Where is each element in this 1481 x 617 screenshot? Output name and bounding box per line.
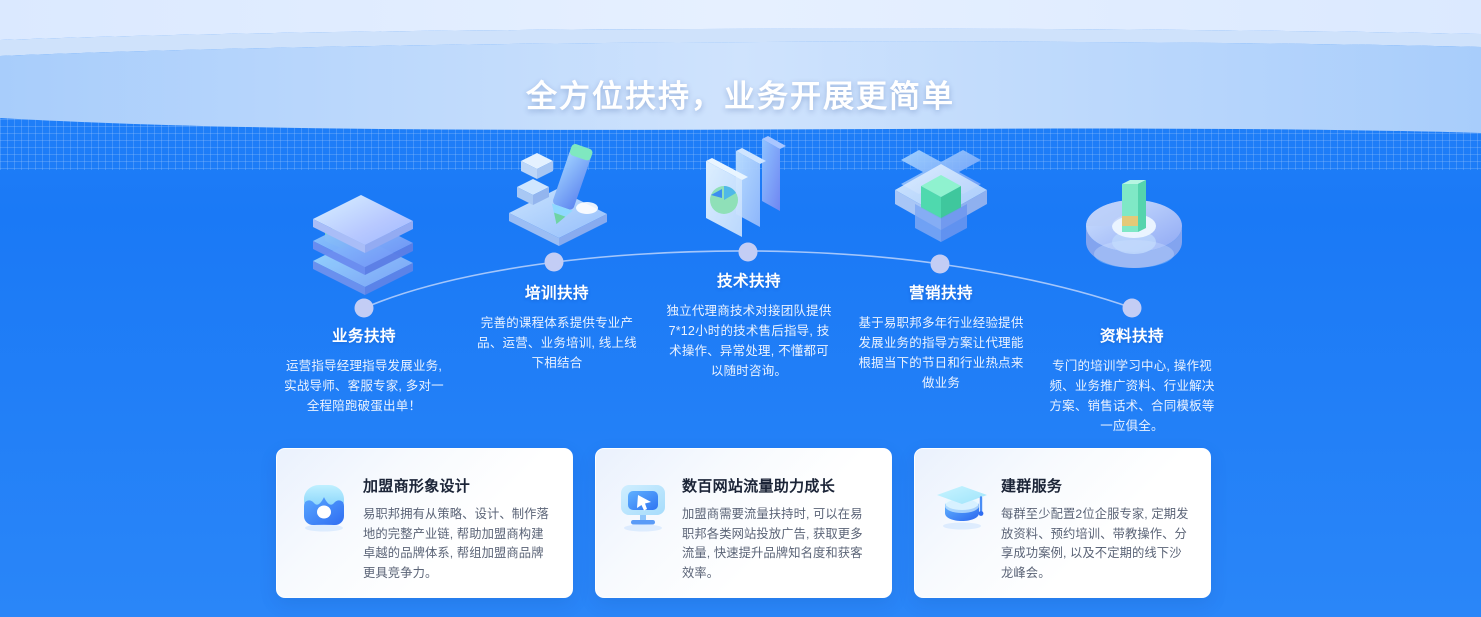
support-title: 培训扶持 [473, 285, 641, 304]
stacked-layers-icon [303, 185, 428, 295]
stacked-panels-chart-icon [690, 133, 805, 251]
feature-card-title: 建群服务 [1001, 475, 1190, 496]
feature-card-list: 加盟商形象设计 易职邦拥有从策略、设计、制作落地的完整产业链, 帮助加盟商构建卓… [276, 448, 1211, 598]
support-title: 资料扶持 [1048, 328, 1216, 347]
monitor-cursor-icon [614, 471, 676, 597]
shop-storefront-icon [295, 471, 357, 597]
support-desc: 独立代理商技术对接团队提供7*12小时的技术售后指导, 技术操作、异常处理, 不… [664, 301, 834, 382]
support-title: 技术扶持 [664, 273, 834, 292]
support-desc: 基于易职邦多年行业经验提供发展业务的指导方案让代理能根据当下的节日和行业热点来做… [857, 313, 1025, 394]
page-title: 全方位扶持，业务开展更简单 [0, 71, 1481, 116]
support-desc: 专门的培训学习中心, 操作视频、业务推广资料、行业解决方案、销售话术、合同模板等… [1048, 356, 1216, 437]
feature-card-title: 数百网站流量助力成长 [682, 475, 871, 496]
donut-chart-icon [1078, 168, 1190, 280]
pencil-platform-icon [495, 135, 620, 255]
feature-card-title: 加盟商形象设计 [363, 475, 552, 496]
feature-card-desc: 每群至少配置2位企服专家, 定期发放资料、预约培训、带教操作、分享成功案例, 以… [1001, 505, 1190, 584]
support-item-5: 资料扶持 专门的培训学习中心, 操作视频、业务推广资料、行业解决方案、销售话术、… [1048, 328, 1216, 437]
support-item-4: 营销扶持 基于易职邦多年行业经验提供发展业务的指导方案让代理能根据当下的节日和行… [857, 285, 1025, 394]
feature-card-1[interactable]: 加盟商形象设计 易职邦拥有从策略、设计、制作落地的完整产业链, 帮助加盟商构建卓… [276, 448, 573, 598]
support-desc: 运营指导经理指导发展业务, 实战导师、客服专家, 多对一全程陪跑破蛋出单！ [280, 356, 448, 417]
support-title: 业务扶持 [280, 328, 448, 347]
feature-card-desc: 易职邦拥有从策略、设计、制作落地的完整产业链, 帮助加盟商构建卓越的品牌体系, … [363, 505, 552, 584]
cube-box-icon [885, 142, 997, 264]
support-item-3: 技术扶持 独立代理商技术对接团队提供7*12小时的技术售后指导, 技术操作、异常… [664, 273, 834, 382]
support-item-1: 业务扶持 运营指导经理指导发展业务, 实战导师、客服专家, 多对一全程陪跑破蛋出… [280, 328, 448, 416]
support-title: 营销扶持 [857, 285, 1025, 304]
feature-card-3[interactable]: 建群服务 每群至少配置2位企服专家, 定期发放资料、预约培训、带教操作、分享成功… [914, 448, 1211, 598]
promo-banner: 全方位扶持，业务开展更简单 [0, 0, 1481, 617]
graduation-cap-icon [933, 471, 995, 597]
feature-card-2[interactable]: 数百网站流量助力成长 加盟商需要流量扶持时, 可以在易职邦各类网站投放广告, 获… [595, 448, 892, 598]
support-item-2: 培训扶持 完善的课程体系提供专业产品、运营、业务培训, 线上线下相结合 [473, 285, 641, 373]
feature-card-desc: 加盟商需要流量扶持时, 可以在易职邦各类网站投放广告, 获取更多流量, 快速提升… [682, 505, 871, 584]
support-desc: 完善的课程体系提供专业产品、运营、业务培训, 线上线下相结合 [473, 313, 641, 374]
